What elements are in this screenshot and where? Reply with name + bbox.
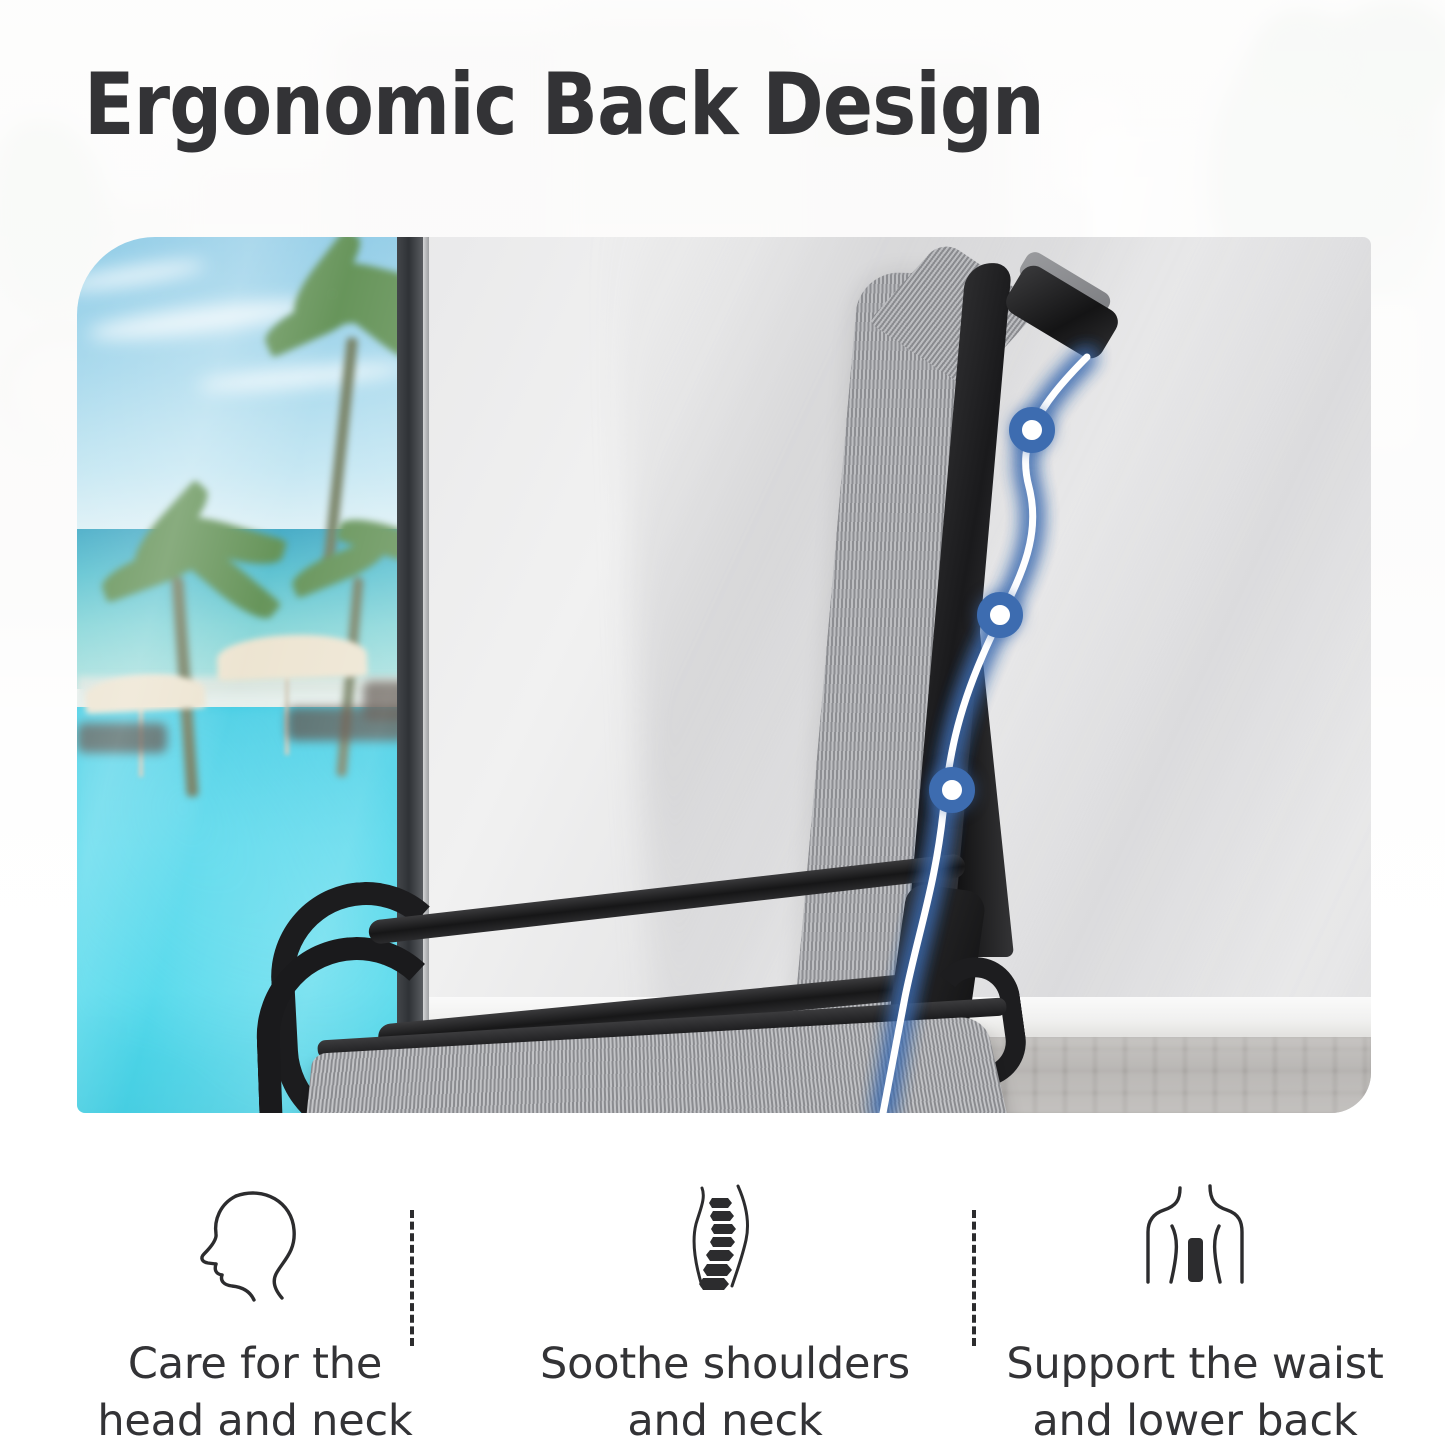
feature-label-line2: head and neck (35, 1393, 475, 1445)
feature-strip: Care for the head and neck (0, 1170, 1445, 1445)
feature-label-line1: Support the waist (975, 1336, 1415, 1393)
spine-icon (505, 1170, 945, 1310)
feature-label: Care for the head and neck (35, 1336, 475, 1445)
feature-label: Support the waist and lower back (975, 1336, 1415, 1445)
product-feature-poster: Ergonomic Back Design (0, 0, 1445, 1445)
feature-label: Soothe shoulders and neck (505, 1336, 945, 1445)
background-leaf (1255, 10, 1345, 100)
background-leaf (1330, 0, 1445, 120)
feature-head-and-neck: Care for the head and neck (35, 1170, 475, 1445)
feature-shoulders-and-neck: Soothe shoulders and neck (505, 1170, 945, 1445)
hero-image-panel (77, 237, 1371, 1113)
feature-label-line2: and lower back (975, 1393, 1415, 1445)
feature-divider (410, 1210, 414, 1346)
feature-label-line1: Care for the (35, 1336, 475, 1393)
background-vase-neck (1060, 90, 1130, 200)
head-profile-icon (35, 1170, 475, 1310)
lower-back-torso-icon (975, 1170, 1415, 1310)
patio-swivel-chair (77, 237, 1371, 1113)
page-title: Ergonomic Back Design (84, 62, 1044, 148)
feature-waist-and-lower-back: Support the waist and lower back (975, 1170, 1415, 1445)
feature-label-line1: Soothe shoulders (505, 1336, 945, 1393)
feature-label-line2: and neck (505, 1393, 945, 1445)
